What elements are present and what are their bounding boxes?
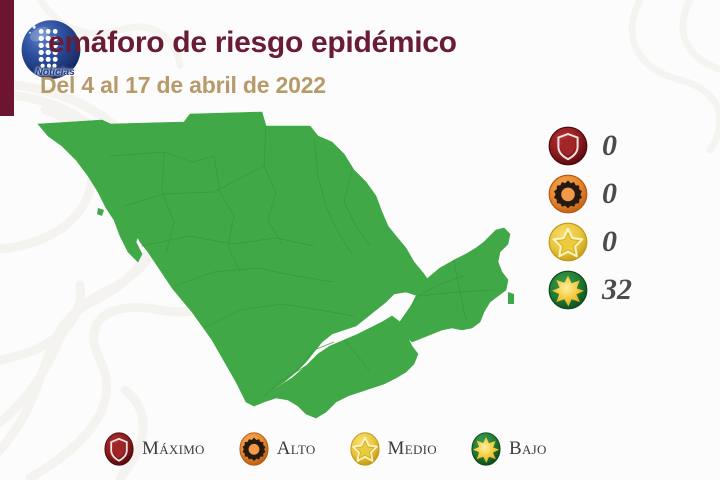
legend-item-alto: Alto [239, 432, 316, 466]
sun-icon [548, 270, 588, 310]
counter-row-maximo: 0 [548, 122, 708, 170]
header: Noticias emáforo de riesgo epidémico Del… [0, 0, 720, 110]
legend-item-bajo: Bajo [471, 432, 547, 466]
counter-value-alto: 0 [602, 179, 617, 209]
legend-item-maximo: Máximo [104, 432, 205, 466]
page-title: emáforo de riesgo epidémico [48, 26, 457, 60]
shield-icon [104, 432, 134, 466]
counter-row-bajo: 32 [548, 266, 708, 314]
legend-label-medio: Medio [388, 438, 437, 460]
gear-icon [548, 174, 588, 214]
counter-value-maximo: 0 [602, 131, 617, 161]
legend: Máximo Alto [104, 432, 581, 466]
risk-level-counters: 0 0 [548, 122, 708, 314]
shield-icon [548, 126, 588, 166]
star-icon [548, 222, 588, 262]
map-container [14, 96, 544, 426]
legend-item-medio: Medio [350, 432, 437, 466]
legend-label-bajo: Bajo [509, 438, 547, 460]
star-icon [350, 432, 380, 466]
map-island-west [97, 208, 104, 216]
semaforo-epidemico-infographic: Noticias emáforo de riesgo epidémico Del… [0, 0, 720, 480]
counter-row-medio: 0 [548, 218, 708, 266]
mexico-map [14, 96, 544, 426]
legend-label-maximo: Máximo [142, 438, 205, 460]
date-range-subtitle: Del 4 al 17 de abril de 2022 [40, 72, 326, 99]
counter-value-medio: 0 [602, 227, 617, 257]
legend-label-alto: Alto [277, 438, 316, 460]
gear-icon [239, 432, 269, 466]
map-island-cozumel [508, 292, 514, 304]
counter-row-alto: 0 [548, 170, 708, 218]
counter-value-bajo: 32 [602, 275, 632, 305]
sun-icon [471, 432, 501, 466]
